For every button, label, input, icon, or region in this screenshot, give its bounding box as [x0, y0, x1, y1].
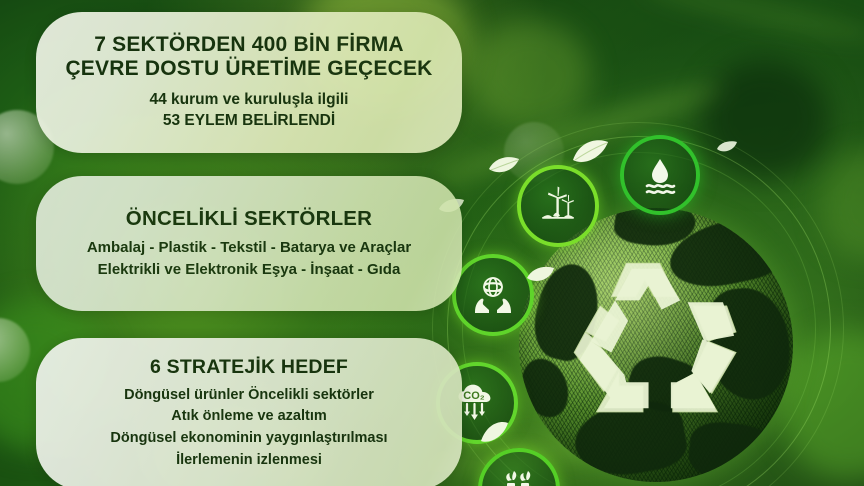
card-subtitle-line: Atık önleme ve azaltım: [110, 406, 387, 428]
leaf-icon: [716, 140, 738, 158]
recycling-symbol-icon: [563, 252, 749, 438]
card-title-line: 6 STRATEJİK HEDEF: [150, 356, 348, 378]
leaf-icon: [570, 138, 610, 166]
card-subtitle-line: İlerlemenin izlenmesi: [110, 450, 387, 472]
card-subtitle-line: 53 EYLEM BELİRLENDİ: [150, 111, 349, 132]
leaf-icon: [487, 155, 521, 181]
card-title-line: ÖNCELİKLİ SEKTÖRLER: [126, 207, 372, 230]
eco-factory-icon: [497, 467, 541, 486]
priority-sectors-card: ÖNCELİKLİ SEKTÖRLER Ambalaj - Plastik - …: [36, 176, 462, 311]
water-drop-icon: [639, 155, 681, 195]
card-title-line: ÇEVRE DOSTU ÜRETİME GEÇECEK: [65, 57, 432, 81]
card-subtitle: 44 kurum ve kuruluşla ilgili 53 EYLEM BE…: [150, 90, 349, 132]
hands-holding-globe-icon: [471, 274, 515, 316]
card-subtitle-line: Döngüsel ekonominin yaygınlaştırılması: [110, 428, 387, 450]
card-subtitle: Ambalaj - Plastik - Tekstil - Batarya ve…: [87, 237, 411, 281]
card-subtitle-line: 44 kurum ve kuruluşla ilgili: [150, 90, 349, 111]
leaf-icon: [526, 265, 556, 289]
headline-card: 7 SEKTÖRDEN 400 BİN FİRMA ÇEVRE DOSTU ÜR…: [36, 12, 462, 153]
strategic-goals-card: 6 STRATEJİK HEDEF Döngüsel ürünler Öncel…: [36, 338, 462, 486]
infographic-canvas: CO₂: [0, 0, 864, 486]
hands-holding-globe-badge[interactable]: [452, 254, 534, 336]
wind-turbine-badge[interactable]: [517, 165, 599, 247]
water-drop-badge[interactable]: [620, 135, 700, 215]
card-title: ÖNCELİKLİ SEKTÖRLER: [126, 207, 372, 230]
earth-globe: [519, 208, 793, 482]
card-subtitle-line: Döngüsel ürünler Öncelikli sektörler: [110, 385, 387, 407]
leaf-icon: [479, 420, 509, 444]
card-subtitle-line: Elektrikli ve Elektronik Eşya - İnşaat -…: [87, 259, 411, 281]
card-subtitle-line: Ambalaj - Plastik - Tekstil - Batarya ve…: [87, 237, 411, 259]
card-title: 6 STRATEJİK HEDEF: [150, 356, 348, 378]
card-title: 7 SEKTÖRDEN 400 BİN FİRMA ÇEVRE DOSTU ÜR…: [65, 33, 432, 81]
co2-label: CO₂: [463, 390, 485, 402]
wind-turbine-icon: [537, 185, 579, 227]
card-title-line: 7 SEKTÖRDEN 400 BİN FİRMA: [65, 33, 432, 57]
card-subtitle: Döngüsel ürünler Öncelikli sektörler Atı…: [110, 385, 387, 472]
